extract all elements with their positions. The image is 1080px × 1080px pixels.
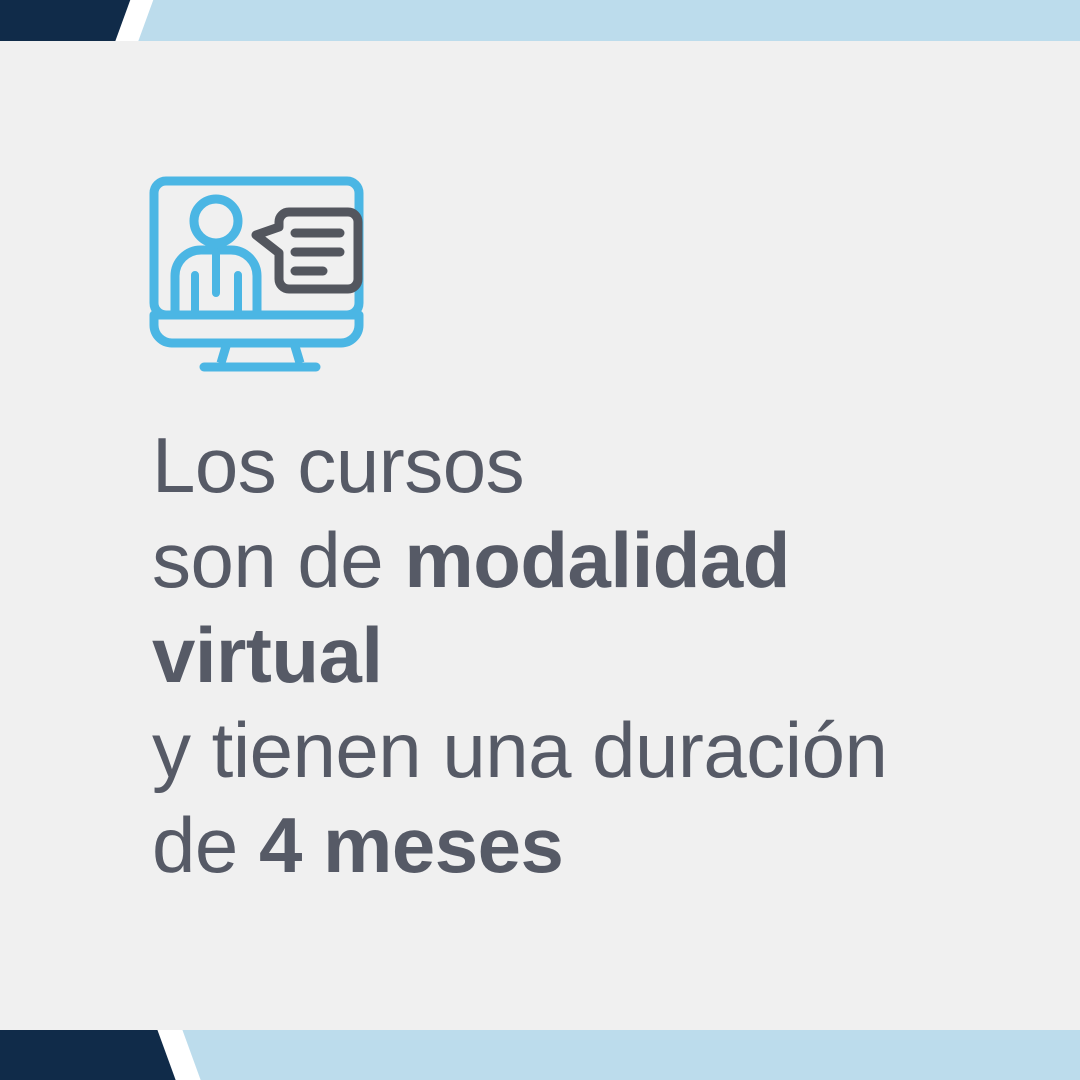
top-banner-blue-band — [135, 0, 1080, 41]
bottom-decorative-banner — [0, 1030, 1080, 1080]
monitor-base — [154, 315, 359, 343]
headline-line-1-regular: Los cursos — [152, 421, 524, 509]
headline-line-2-regular: son de — [152, 516, 404, 604]
headline-line-5: de 4 meses — [152, 798, 1012, 893]
online-class-monitor-icon — [148, 175, 373, 375]
headline-line-4-regular: y tienen una duración — [152, 706, 887, 794]
headline-line-5-bold: 4 meses — [259, 801, 563, 889]
headline-line-5-regular: de — [152, 801, 259, 889]
headline-line-2: son de modalidad — [152, 513, 1012, 608]
headline-line-3-bold: virtual — [152, 611, 383, 699]
promo-card: Los cursos son de modalidad virtual y ti… — [0, 0, 1080, 1080]
person-torso-lines — [195, 252, 238, 315]
headline-text-block: Los cursos son de modalidad virtual y ti… — [152, 418, 1012, 893]
headline-line-3: virtual — [152, 608, 1012, 703]
headline-line-4: y tienen una duración — [152, 703, 1012, 798]
person-head — [194, 199, 238, 243]
headline-line-2-bold: modalidad — [404, 516, 790, 604]
top-decorative-banner — [0, 0, 1080, 41]
headline-line-1: Los cursos — [152, 418, 1012, 513]
bottom-banner-blue-band — [180, 1030, 1080, 1080]
